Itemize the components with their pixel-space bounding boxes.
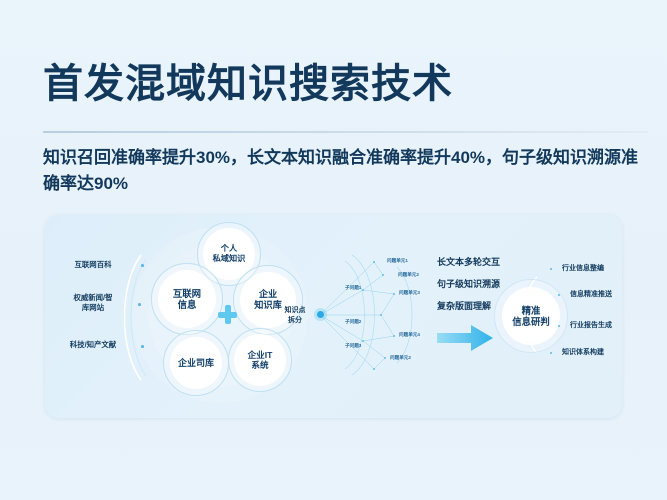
result-circle-label: 精准 信息研判 (512, 305, 550, 327)
page-title: 首发混域知识搜索技术 (43, 60, 453, 108)
source-dot-2 (138, 303, 141, 306)
question-unit-label-1: 问题单元1 (387, 258, 408, 264)
source-dot-1 (141, 264, 144, 267)
sub-question-label-3: 子问题3 (345, 343, 361, 349)
knowledge-hub-node (317, 311, 324, 318)
source-dot-3 (141, 345, 144, 348)
source-label-encyclopedia: 互联网百科 (55, 260, 131, 270)
source-label-news-thinktank: 权威新闻/智 库网站 (55, 293, 131, 313)
source-label-sci-ip-literature: 科技/知产文献 (55, 340, 131, 350)
sub-question-label-1: 子问题1 (345, 285, 361, 291)
bubble-internet-info[interactable]: 互联网 信息 (158, 270, 216, 328)
capability-layout-understanding: 复杂版面理解 (437, 300, 491, 312)
bubble-personal-knowledge-label: 个人 私域知识 (213, 244, 246, 263)
output-label-knowledge-system: 知识体系构建 (562, 348, 604, 357)
sub-question-label-2: 子问题2 (345, 319, 361, 325)
question-unit-label-3: 问题单元3 (399, 290, 420, 296)
bubble-enterprise-it[interactable]: 企业IT 系统 (234, 334, 286, 386)
plus-icon (218, 305, 237, 324)
question-unit-label-4: 问题单元4 (399, 332, 420, 338)
output-label-industry-compilation: 行业信息整编 (562, 264, 604, 273)
knowledge-split-label: 知识点 拆分 (275, 306, 315, 325)
bubble-enterprise-treasury-label: 企业司库 (178, 358, 214, 369)
diagram-card: 互联网百科 权威新闻/智 库网站 科技/知产文献 个人 私域知识 互联网 信息 … (45, 215, 622, 418)
question-unit-label-5: 问题单元2 (390, 355, 411, 361)
slide-root: 首发混域知识搜索技术 知识召回准确率提升30%，长文本知识融合准确率提升40%，… (0, 0, 667, 500)
output-label-precise-push: 信息精准推送 (570, 290, 612, 299)
capability-multi-turn: 长文本多轮交互 (437, 256, 500, 268)
page-subtitle: 知识召回准确率提升30%，长文本知识融合准确率提升40%，句子级知识溯源准确率达… (43, 145, 643, 197)
title-divider (43, 131, 648, 133)
capability-sentence-traceability: 句子级知识溯源 (437, 278, 500, 290)
bubble-enterprise-it-label: 企业IT 系统 (248, 350, 273, 370)
output-label-report-generation: 行业报告生成 (570, 321, 612, 330)
result-circle[interactable]: 精准 信息研判 (502, 287, 560, 345)
question-unit-label-2: 问题单元2 (398, 272, 419, 278)
bubble-internet-info-label: 互联网 信息 (173, 288, 201, 310)
bubble-enterprise-treasury[interactable]: 企业司库 (170, 337, 222, 389)
right-arrow-icon (437, 323, 497, 353)
